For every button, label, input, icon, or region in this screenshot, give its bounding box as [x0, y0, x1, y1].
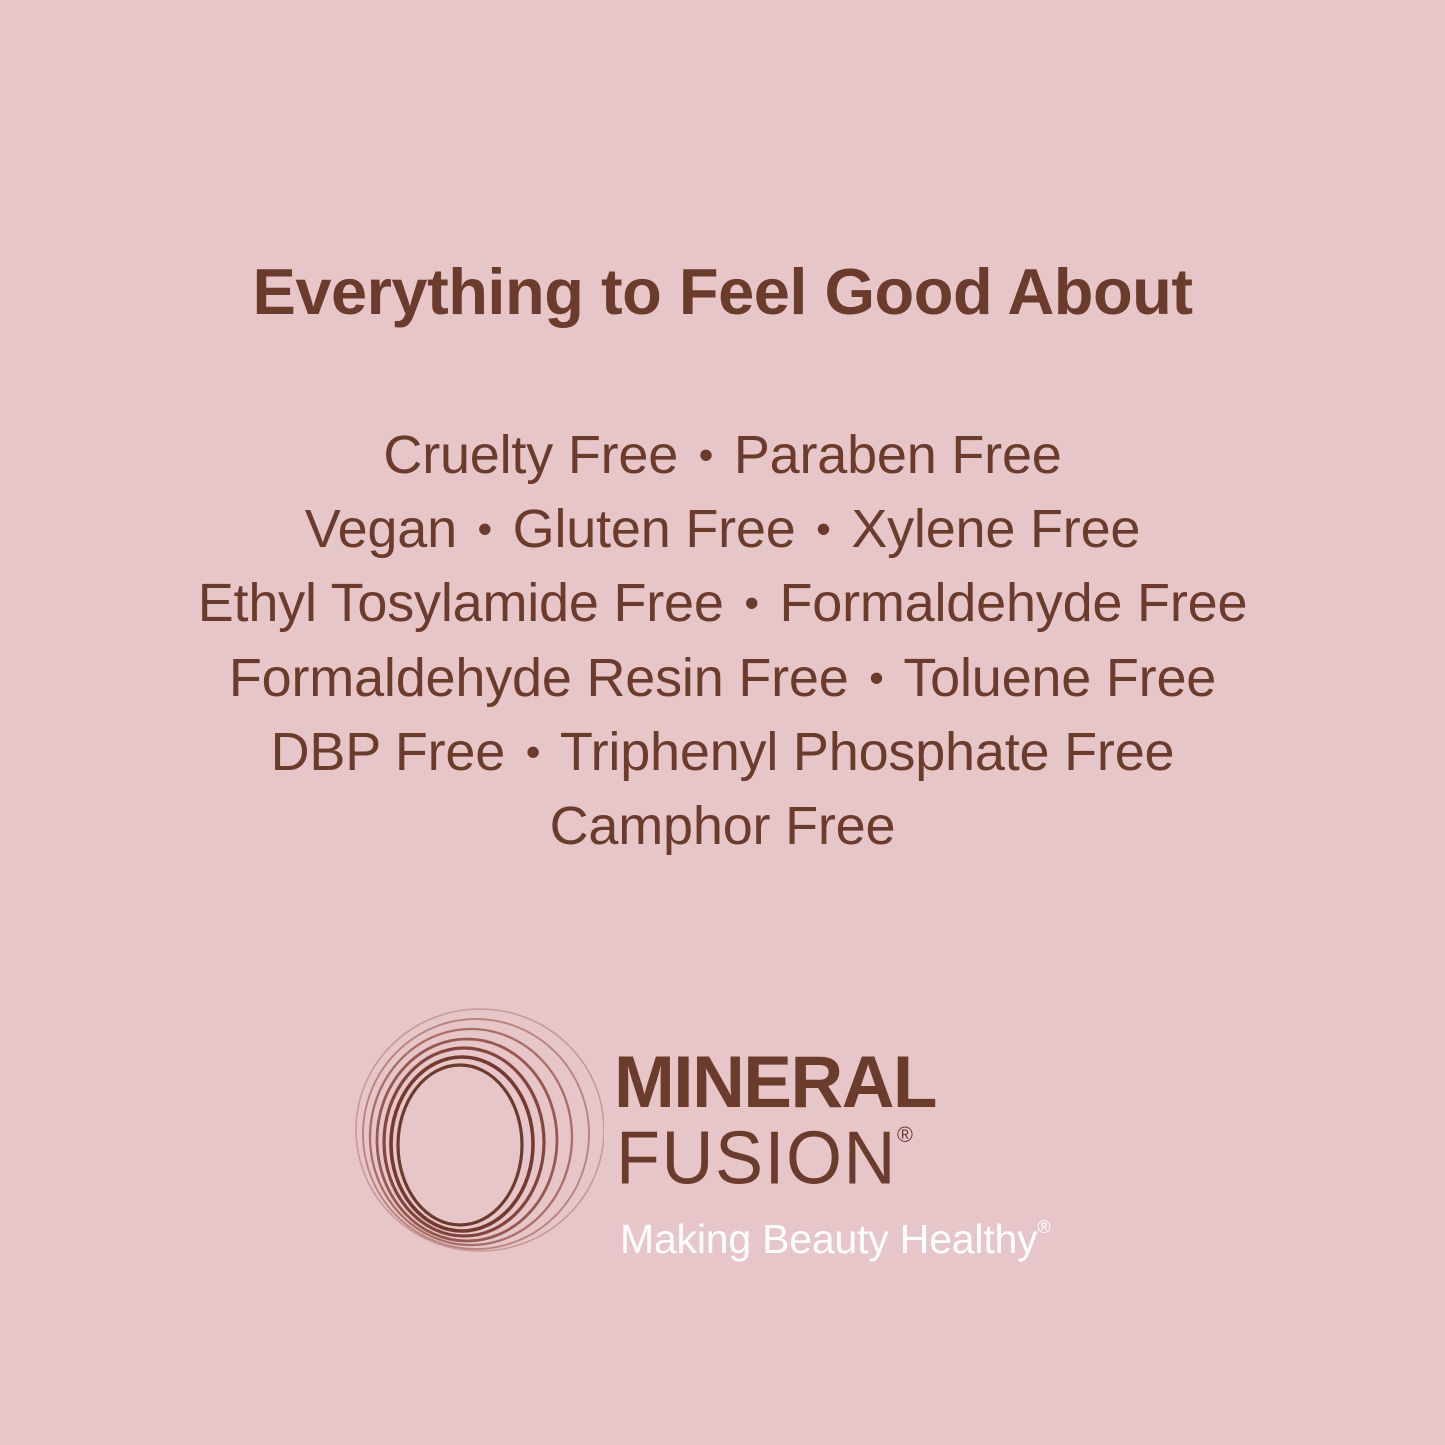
- claim-line: Ethyl Tosylamide Free • Formaldehyde Fre…: [0, 566, 1445, 640]
- bullet-separator-icon: •: [472, 492, 498, 566]
- claim-item: Gluten Free: [513, 499, 796, 559]
- brand-name-fusion-text: FUSION: [616, 1117, 897, 1200]
- claim-line: Cruelty Free • Paraben Free: [0, 418, 1445, 492]
- claim-line: Vegan • Gluten Free • Xylene Free: [0, 492, 1445, 566]
- claim-item: Xylene Free: [851, 499, 1140, 559]
- claim-item: Formaldehyde Free: [779, 574, 1247, 634]
- claim-line: Camphor Free: [0, 789, 1445, 863]
- claim-item: DBP Free: [271, 722, 506, 782]
- brand-name-mineral: MINERAL: [614, 1046, 936, 1119]
- claim-item: Formaldehyde Resin Free: [229, 648, 849, 708]
- brand-tagline: Making Beauty Healthy®: [620, 1218, 1051, 1260]
- claim-item: Triphenyl Phosphate Free: [560, 722, 1175, 782]
- bullet-separator-icon: •: [739, 566, 765, 640]
- bullet-separator-icon: •: [810, 492, 836, 566]
- poster-canvas: Everything to Feel Good About Cruelty Fr…: [0, 0, 1445, 1445]
- bullet-separator-icon: •: [520, 715, 546, 789]
- brand-name-fusion: FUSION®: [616, 1121, 913, 1196]
- concentric-rings-icon: [352, 1004, 604, 1259]
- bullet-separator-icon: •: [863, 641, 889, 715]
- brand-logo: MINERAL FUSION® Making Beauty Healthy®: [352, 1000, 1092, 1290]
- registered-trademark-icon: ®: [897, 1121, 913, 1147]
- claim-line: DBP Free • Triphenyl Phosphate Free: [0, 715, 1445, 789]
- claim-item: Vegan: [305, 499, 457, 559]
- claims-list: Cruelty Free • Paraben FreeVegan • Glute…: [0, 418, 1445, 863]
- claim-item: Cruelty Free: [383, 425, 678, 485]
- brand-wordmark: MINERAL FUSION® Making Beauty Healthy®: [614, 1000, 1092, 1290]
- brand-tagline-text: Making Beauty Healthy: [620, 1216, 1037, 1262]
- bullet-separator-icon: •: [693, 418, 719, 492]
- tagline-registered-trademark-icon: ®: [1037, 1217, 1050, 1237]
- claim-item: Ethyl Tosylamide Free: [198, 574, 724, 634]
- page-title: Everything to Feel Good About: [0, 258, 1445, 326]
- claim-line: Formaldehyde Resin Free • Toluene Free: [0, 641, 1445, 715]
- claim-item: Camphor Free: [550, 796, 896, 856]
- claim-item: Paraben Free: [734, 425, 1062, 485]
- claim-item: Toluene Free: [903, 648, 1216, 708]
